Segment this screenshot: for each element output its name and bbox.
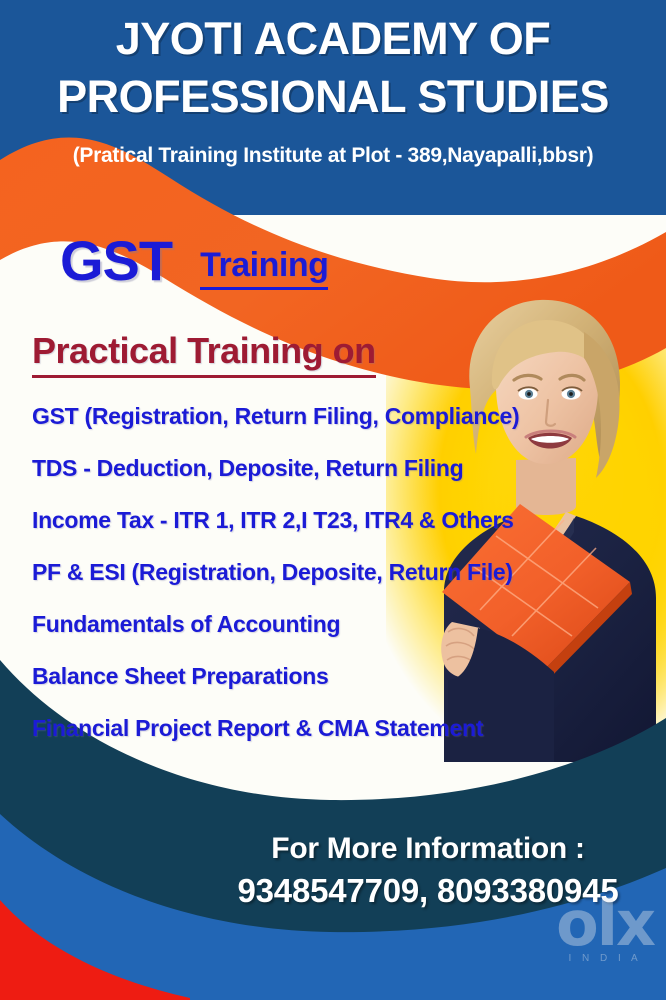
contact-section: For More Information : 9348547709, 80933… <box>0 832 666 910</box>
poster-canvas: JYOTI ACADEMY OF PROFESSIONAL STUDIES (P… <box>0 0 666 1000</box>
section-title-practical-training: Practical Training on <box>32 330 376 378</box>
course-list: GST (Registration, Return Filing, Compli… <box>32 390 519 754</box>
headline-training: Training <box>200 246 328 290</box>
list-item: TDS - Deduction, Deposite, Return Filing <box>32 442 519 494</box>
title-line-1: JYOTI ACADEMY OF <box>116 13 551 64</box>
contact-label: For More Information : <box>190 832 666 866</box>
list-item: Fundamentals of Accounting <box>32 598 519 650</box>
page-title: JYOTI ACADEMY OF PROFESSIONAL STUDIES <box>0 10 666 126</box>
list-item: Balance Sheet Preparations <box>32 650 519 702</box>
list-item: Income Tax - ITR 1, ITR 2,I T23, ITR4 & … <box>32 494 519 546</box>
headline-gst-training: GSTTraining <box>60 228 328 294</box>
list-item: PF & ESI (Registration, Deposite, Return… <box>32 546 519 598</box>
list-item: Financial Project Report & CMA Statement <box>32 702 519 754</box>
list-item: GST (Registration, Return Filing, Compli… <box>32 390 519 442</box>
contact-phone-numbers: 9348547709, 8093380945 <box>190 872 666 910</box>
header-subtitle: (Pratical Training Institute at Plot - 3… <box>0 144 666 168</box>
headline-gst: GST <box>60 228 172 293</box>
title-line-2: PROFESSIONAL STUDIES <box>0 68 666 126</box>
olx-india-caption: I N D I A <box>556 953 654 964</box>
